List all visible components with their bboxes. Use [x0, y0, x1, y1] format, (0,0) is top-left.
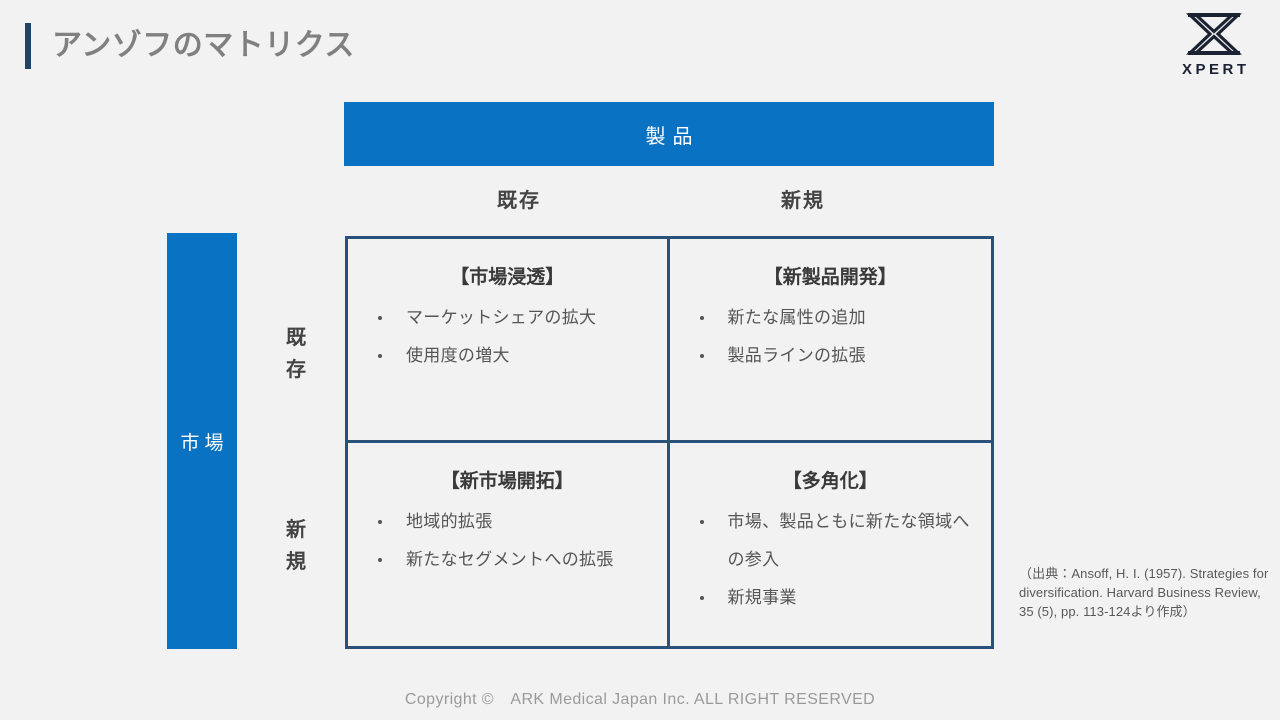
row-header-new-char-2: 規	[272, 546, 320, 578]
row-header-existing-char-2: 存	[272, 354, 320, 386]
row-header-new: 新 規	[272, 514, 320, 578]
cell-title: 【新製品開発】	[686, 263, 976, 293]
slide-canvas: アンゾフのマトリクス XPERT 製品 既存 新規 市場 既 存 新 規 【市場…	[0, 0, 1280, 720]
cell-bullet-list: マーケットシェアの拡大 使用度の増大	[364, 299, 651, 375]
column-header-new: 新規	[722, 186, 882, 216]
logo-wordmark: XPERT	[1178, 61, 1249, 78]
column-header-existing: 既存	[438, 186, 598, 216]
source-citation: （出典：Ansoff, H. I. (1957). Strategies for…	[1019, 564, 1271, 621]
page-title: アンゾフのマトリクス	[52, 26, 355, 66]
matrix-cell-product-development: 【新製品開発】 新たな属性の追加 製品ラインの拡張	[670, 239, 992, 443]
list-item: 使用度の増大	[364, 337, 651, 375]
cell-title: 【多角化】	[686, 467, 976, 497]
list-item: 製品ラインの拡張	[686, 337, 976, 375]
list-item: 新たなセグメントへの拡張	[364, 541, 651, 579]
brand-logo: XPERT	[1172, 10, 1256, 82]
list-item: 新規事業	[686, 579, 976, 617]
list-item: マーケットシェアの拡大	[364, 299, 651, 337]
list-item: 新たな属性の追加	[686, 299, 976, 337]
matrix-cell-market-penetration: 【市場浸透】 マーケットシェアの拡大 使用度の増大	[348, 239, 670, 443]
list-item: 地域的拡張	[364, 503, 651, 541]
row-header-existing-char-1: 既	[272, 322, 320, 354]
product-axis-bar: 製品	[344, 102, 994, 166]
cell-bullet-list: 市場、製品ともに新たな領域への参入 新規事業	[686, 503, 976, 617]
title-accent-bar	[25, 23, 31, 69]
x-logo-icon	[1184, 10, 1244, 58]
matrix-cell-diversification: 【多角化】 市場、製品ともに新たな領域への参入 新規事業	[670, 443, 992, 647]
matrix-cell-market-development: 【新市場開拓】 地域的拡張 新たなセグメントへの拡張	[348, 443, 670, 647]
cell-bullet-list: 新たな属性の追加 製品ラインの拡張	[686, 299, 976, 375]
cell-title: 【市場浸透】	[364, 263, 651, 293]
cell-title: 【新市場開拓】	[364, 467, 651, 497]
copyright-footer: Copyright © ARK Medical Japan Inc. ALL R…	[0, 688, 1280, 712]
market-axis-bar: 市場	[167, 233, 237, 649]
ansoff-matrix: 【市場浸透】 マーケットシェアの拡大 使用度の増大 【新製品開発】 新たな属性の…	[345, 236, 994, 649]
list-item: 市場、製品ともに新たな領域への参入	[686, 503, 976, 579]
row-header-existing: 既 存	[272, 322, 320, 386]
cell-bullet-list: 地域的拡張 新たなセグメントへの拡張	[364, 503, 651, 579]
row-header-new-char-1: 新	[272, 514, 320, 546]
